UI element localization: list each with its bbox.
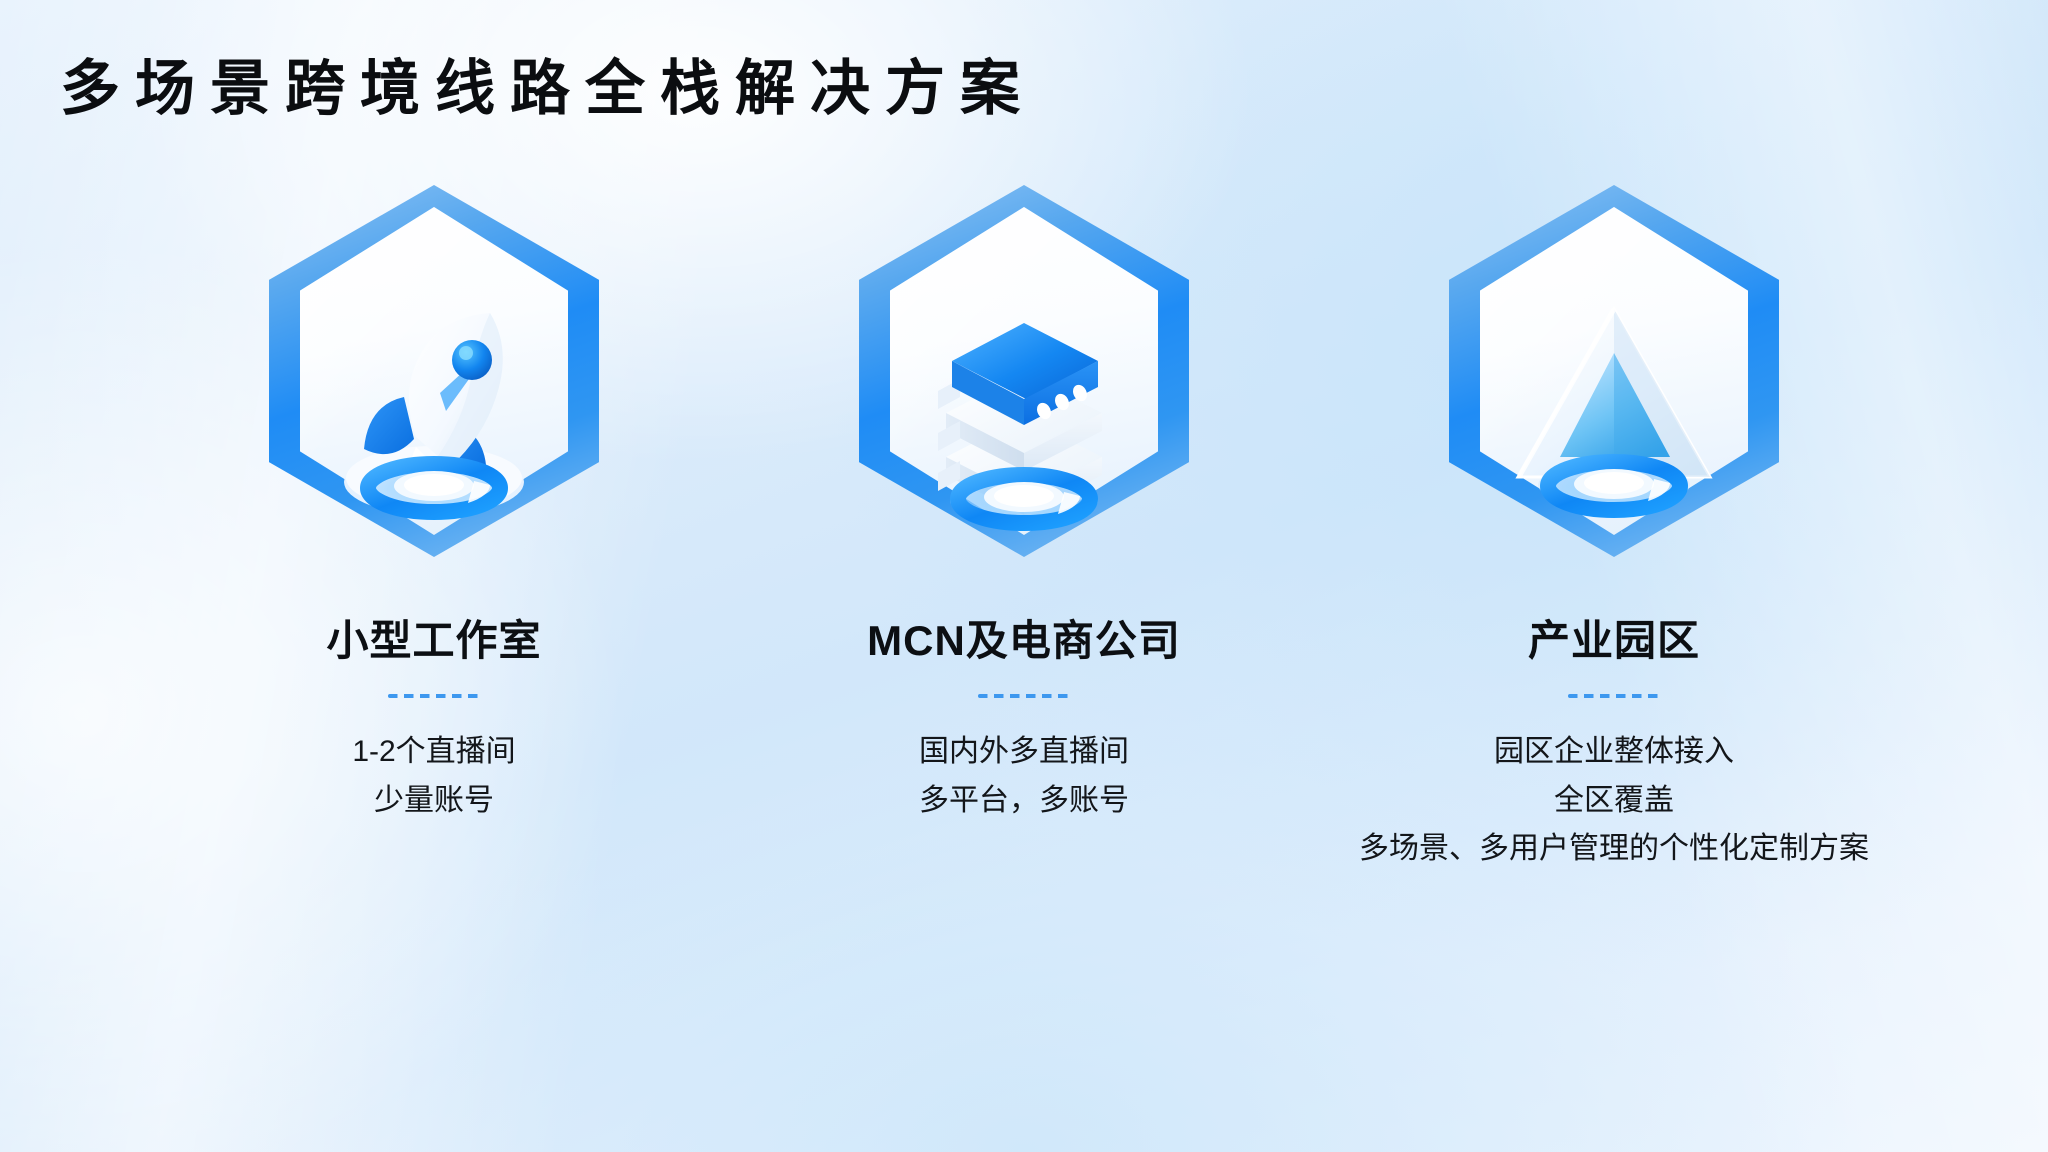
card-title-3: 产业园区 [1528,607,1700,668]
dashed-divider-2 [978,694,1070,698]
scenario-cards-row: 小型工作室 1-2个直播间 少量账号 [0,185,2048,874]
hexagon-badge-2 [834,185,1214,585]
desc-line: 多场景、多用户管理的个性化定制方案 [1359,825,1869,874]
desc-line: 1-2个直播间 [352,728,515,777]
card-description-3: 园区企业整体接入 全区覆盖 多场景、多用户管理的个性化定制方案 [1359,728,1869,874]
card-title-2: MCN及电商公司 [867,607,1181,668]
page-title: 多场景跨境线路全栈解决方案 [60,56,1035,122]
dashed-divider-3 [1568,694,1660,698]
desc-line: 少量账号 [352,777,515,826]
scenario-card-mcn-ecommerce[interactable]: MCN及电商公司 国内外多直播间 多平台，多账号 [784,185,1264,825]
scenario-card-industrial-park[interactable]: 产业园区 园区企业整体接入 全区覆盖 多场景、多用户管理的个性化定制方案 [1374,185,1854,874]
card-description-1: 1-2个直播间 少量账号 [352,728,515,825]
pyramid-icon [1424,185,1804,585]
hexagon-badge-3 [1424,185,1804,585]
scenario-card-small-studio[interactable]: 小型工作室 1-2个直播间 少量账号 [194,185,674,825]
desc-line: 园区企业整体接入 [1359,728,1869,777]
desc-line: 国内外多直播间 [919,728,1129,777]
desc-line: 多平台，多账号 [919,777,1129,826]
rocket-icon [244,185,624,585]
server-stack-icon [834,185,1214,585]
card-title-1: 小型工作室 [326,607,541,668]
desc-line: 全区覆盖 [1359,777,1869,826]
card-description-2: 国内外多直播间 多平台，多账号 [919,728,1129,825]
dashed-divider-1 [388,694,480,698]
hexagon-badge-1 [244,185,624,585]
